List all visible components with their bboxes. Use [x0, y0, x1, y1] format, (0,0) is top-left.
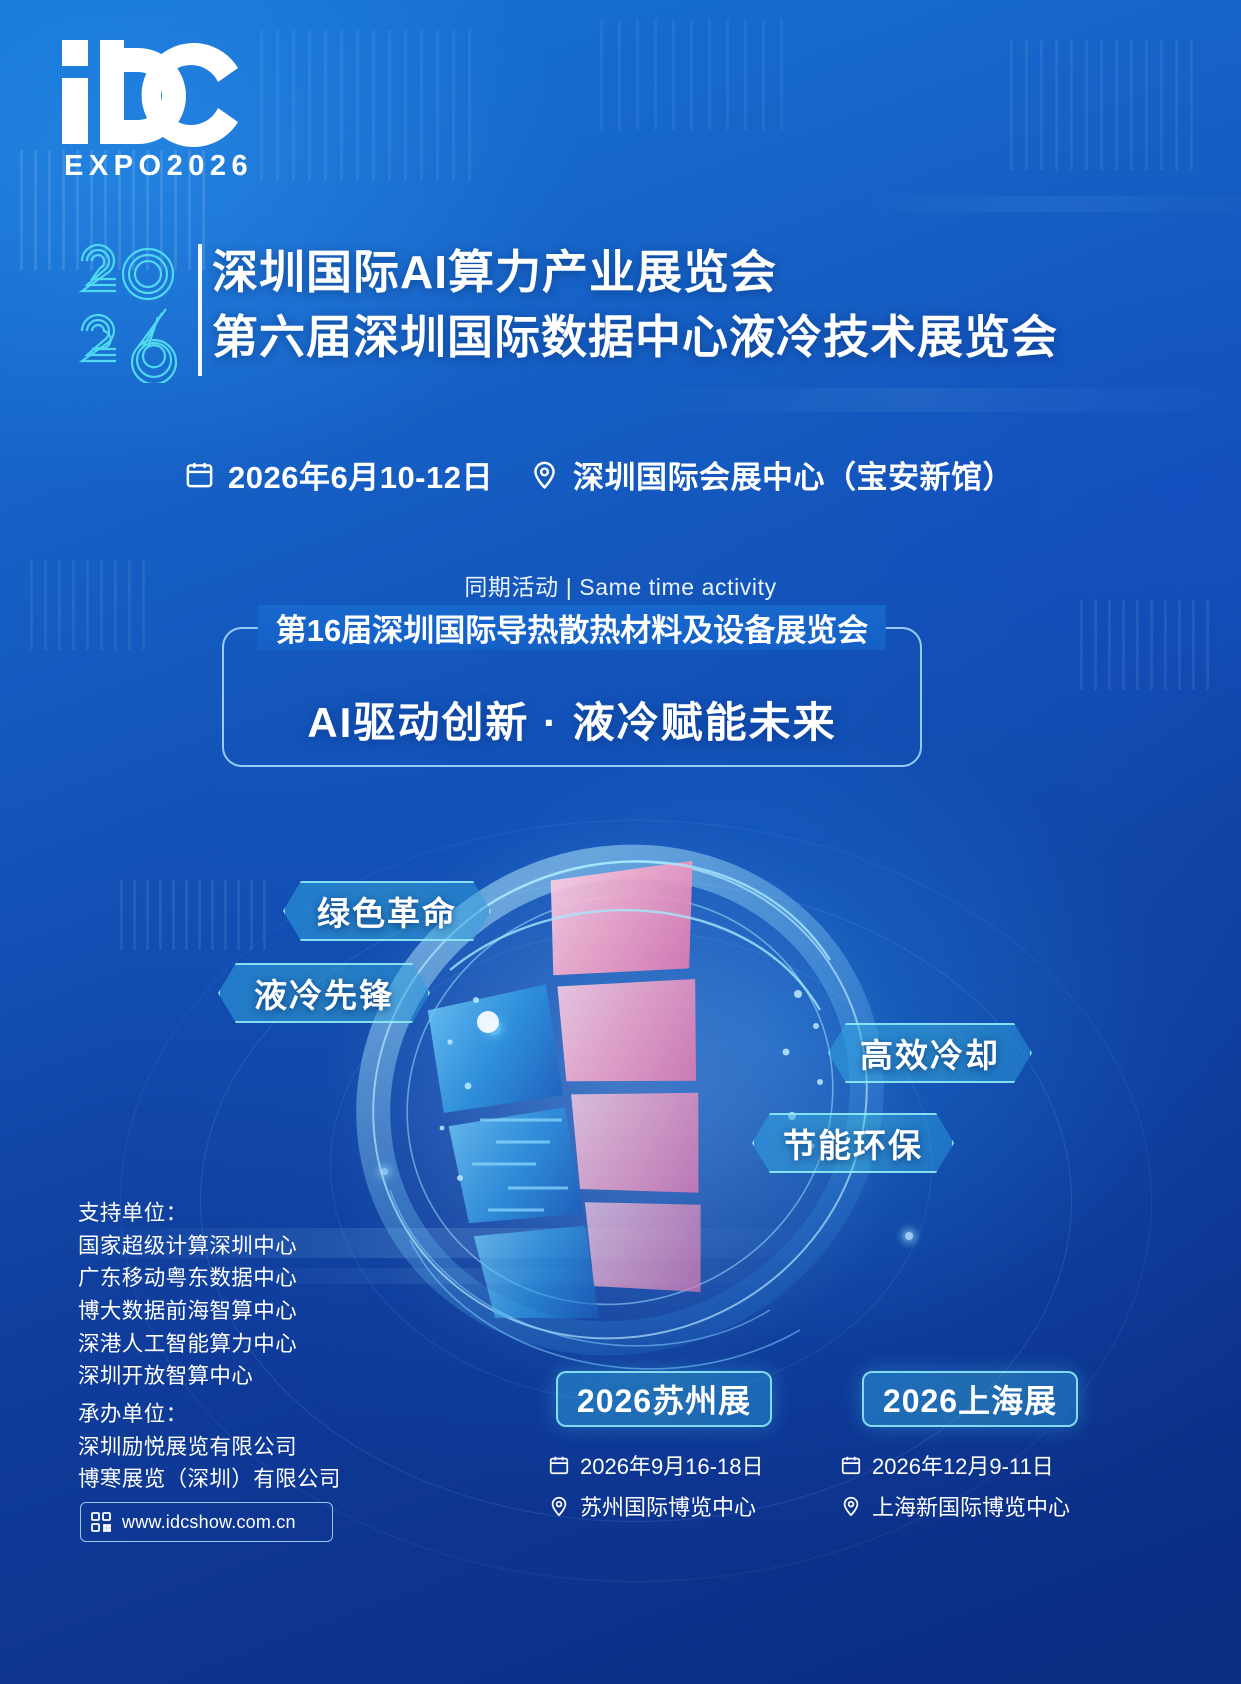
location-pin-icon [529, 459, 560, 490]
logo: EXPO2026 [60, 38, 330, 188]
sponsor-item: 国家超级计算深圳中心 [78, 1230, 297, 1263]
qr-code-icon [89, 1510, 113, 1534]
year-2026-mark [76, 243, 201, 383]
bar-texture [1010, 40, 1200, 170]
event-date-text: 2026年6月10-12日 [228, 452, 493, 497]
sub-expo-panel: 第16届深圳国际导热散热材料及设备展览会 AI驱动创新 · 液冷赋能未来 [222, 627, 922, 767]
diagonal-band [854, 196, 1241, 212]
show-date: 2026年9月16-18日 [580, 1449, 763, 1481]
title-line-2: 第六届深圳国际数据中心液冷技术展览会 [212, 305, 1058, 370]
location-pin-icon [548, 1495, 570, 1517]
feature-tag-energy-saving[interactable]: 节能环保 [752, 1113, 954, 1173]
logo-subtitle: EXPO2026 [60, 150, 330, 183]
organizer-item: 深圳励悦展览有限公司 [78, 1431, 341, 1464]
event-date: 2026年6月10-12日 [184, 452, 493, 497]
event-venue-text: 深圳国际会展中心（宝安新馆） [573, 452, 1014, 497]
calendar-icon [840, 1454, 862, 1476]
organizer-item: 博寒展览（深圳）有限公司 [78, 1463, 341, 1496]
show-tag-label: 2026苏州展 [577, 1376, 751, 1422]
show-info-suzhou: 2026年9月16-18日 苏州国际博览中心 [548, 1440, 763, 1522]
sponsor-item: 深港人工智能算力中心 [78, 1328, 297, 1361]
sponsors-block: 支持单位： 国家超级计算深圳中心 广东移动粤东数据中心 博大数据前海智算中心 深… [78, 1197, 297, 1393]
calendar-icon [548, 1454, 570, 1476]
show-info-shanghai: 2026年12月9-11日 上海新国际博览中心 [840, 1440, 1070, 1522]
poster-root: EXPO2026 [0, 0, 1241, 1684]
show-date-row: 2026年12月9-11日 [840, 1449, 1070, 1481]
feature-tag-green-revolution[interactable]: 绿色革命 [283, 881, 491, 941]
feature-tag-liquid-cooling-pioneer[interactable]: 液冷先锋 [218, 963, 430, 1023]
organizers-block: 承办单位： 深圳励悦展览有限公司 博寒展览（深圳）有限公司 [78, 1398, 341, 1496]
diagonal-band [631, 388, 1241, 412]
sponsor-item: 深圳开放智算中心 [78, 1360, 297, 1393]
website-link[interactable]: www.idcshow.com.cn [80, 1502, 333, 1542]
feature-tag-label: 液冷先锋 [254, 969, 394, 1017]
sponsor-item: 广东移动粤东数据中心 [78, 1262, 297, 1295]
organizers-heading: 承办单位： [78, 1398, 341, 1431]
page-title: 深圳国际AI算力产业展览会 第六届深圳国际数据中心液冷技术展览会 [212, 240, 1058, 371]
feature-tag-label: 节能环保 [783, 1119, 923, 1167]
event-slogan: AI驱动创新 · 液冷赋能未来 [222, 689, 922, 750]
show-tag-shanghai[interactable]: 2026上海展 [862, 1371, 1078, 1427]
bar-texture [120, 880, 270, 950]
feature-tag-label: 绿色革命 [317, 887, 457, 935]
show-venue-row: 苏州国际博览中心 [548, 1490, 763, 1522]
show-date: 2026年12月9-11日 [872, 1449, 1054, 1481]
feature-tag-label: 高效冷却 [860, 1029, 1000, 1077]
show-venue: 苏州国际博览中心 [580, 1490, 756, 1522]
website-url: www.idcshow.com.cn [122, 1512, 296, 1533]
bar-texture [600, 20, 800, 130]
same-time-activity-label: 同期活动 | Same time activity [0, 568, 1241, 602]
feature-tag-efficient-cooling[interactable]: 高效冷却 [828, 1023, 1032, 1083]
show-tag-suzhou[interactable]: 2026苏州展 [556, 1371, 772, 1427]
title-line-1: 深圳国际AI算力产业展览会 [212, 240, 1058, 305]
sub-expo-title: 第16届深圳国际导热散热材料及设备展览会 [258, 605, 886, 650]
calendar-icon [184, 459, 215, 490]
event-venue: 深圳国际会展中心（宝安新馆） [529, 452, 1014, 497]
sponsor-item: 博大数据前海智算中心 [78, 1295, 297, 1328]
event-meta: 2026年6月10-12日 深圳国际会展中心（宝安新馆） [184, 452, 1014, 497]
show-tag-label: 2026上海展 [883, 1376, 1057, 1422]
show-date-row: 2026年9月16-18日 [548, 1449, 763, 1481]
idc-logo-icon [60, 38, 245, 148]
sponsors-heading: 支持单位： [78, 1197, 297, 1230]
show-venue: 上海新国际博览中心 [872, 1490, 1070, 1522]
show-venue-row: 上海新国际博览中心 [840, 1490, 1070, 1522]
location-pin-icon [840, 1495, 862, 1517]
bar-texture [1080, 600, 1220, 690]
